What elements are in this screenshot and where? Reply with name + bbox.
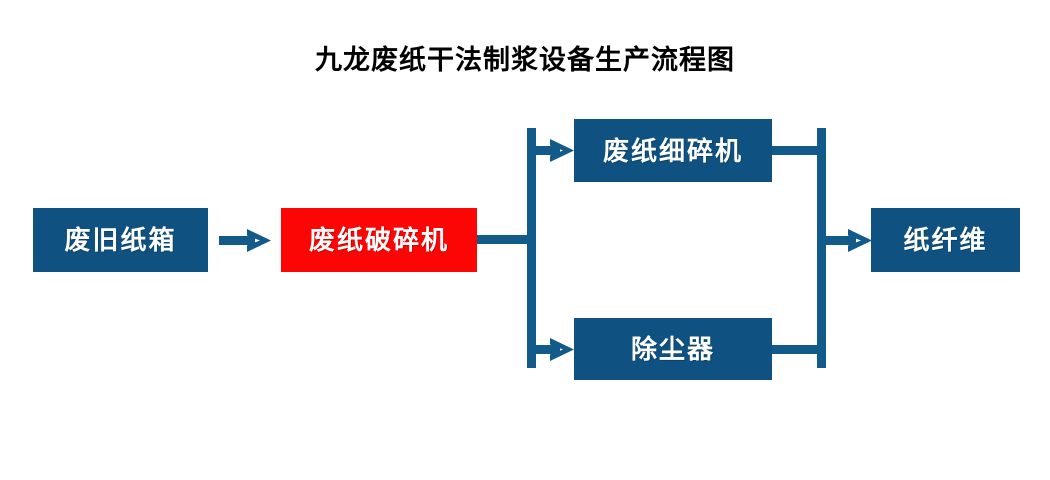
merge-bar-vertical (817, 128, 826, 368)
arrow-input-to-crusher (219, 225, 275, 257)
split-bar-vertical (527, 128, 536, 368)
node-fine-crusher[interactable]: 废纸细碎机 (574, 119, 772, 182)
arrowhead-split-to-fine-crusher (550, 135, 580, 167)
node-dust-collector[interactable]: 除尘器 (574, 318, 772, 380)
node-label: 除尘器 (631, 336, 715, 362)
node-paper-crusher[interactable]: 废纸破碎机 (281, 208, 477, 272)
node-label: 废纸破碎机 (309, 227, 449, 253)
page-title: 九龙废纸干法制浆设备生产流程图 (0, 38, 1050, 77)
flowchart-canvas: 九龙废纸干法制浆设备生产流程图 废旧纸箱 废纸破碎机 废纸细碎机 除尘器 纸纤维 (0, 0, 1050, 480)
line-crusher-to-split (477, 235, 533, 244)
node-waste-cardboard[interactable]: 废旧纸箱 (33, 208, 208, 272)
node-paper-fiber[interactable]: 纸纤维 (871, 208, 1020, 272)
node-label: 废纸细碎机 (603, 138, 743, 164)
node-label: 废旧纸箱 (64, 227, 176, 253)
node-label: 纸纤维 (903, 227, 987, 253)
arrow-merge-to-output (826, 225, 876, 257)
arrowhead-split-to-dust-collector (550, 334, 580, 366)
